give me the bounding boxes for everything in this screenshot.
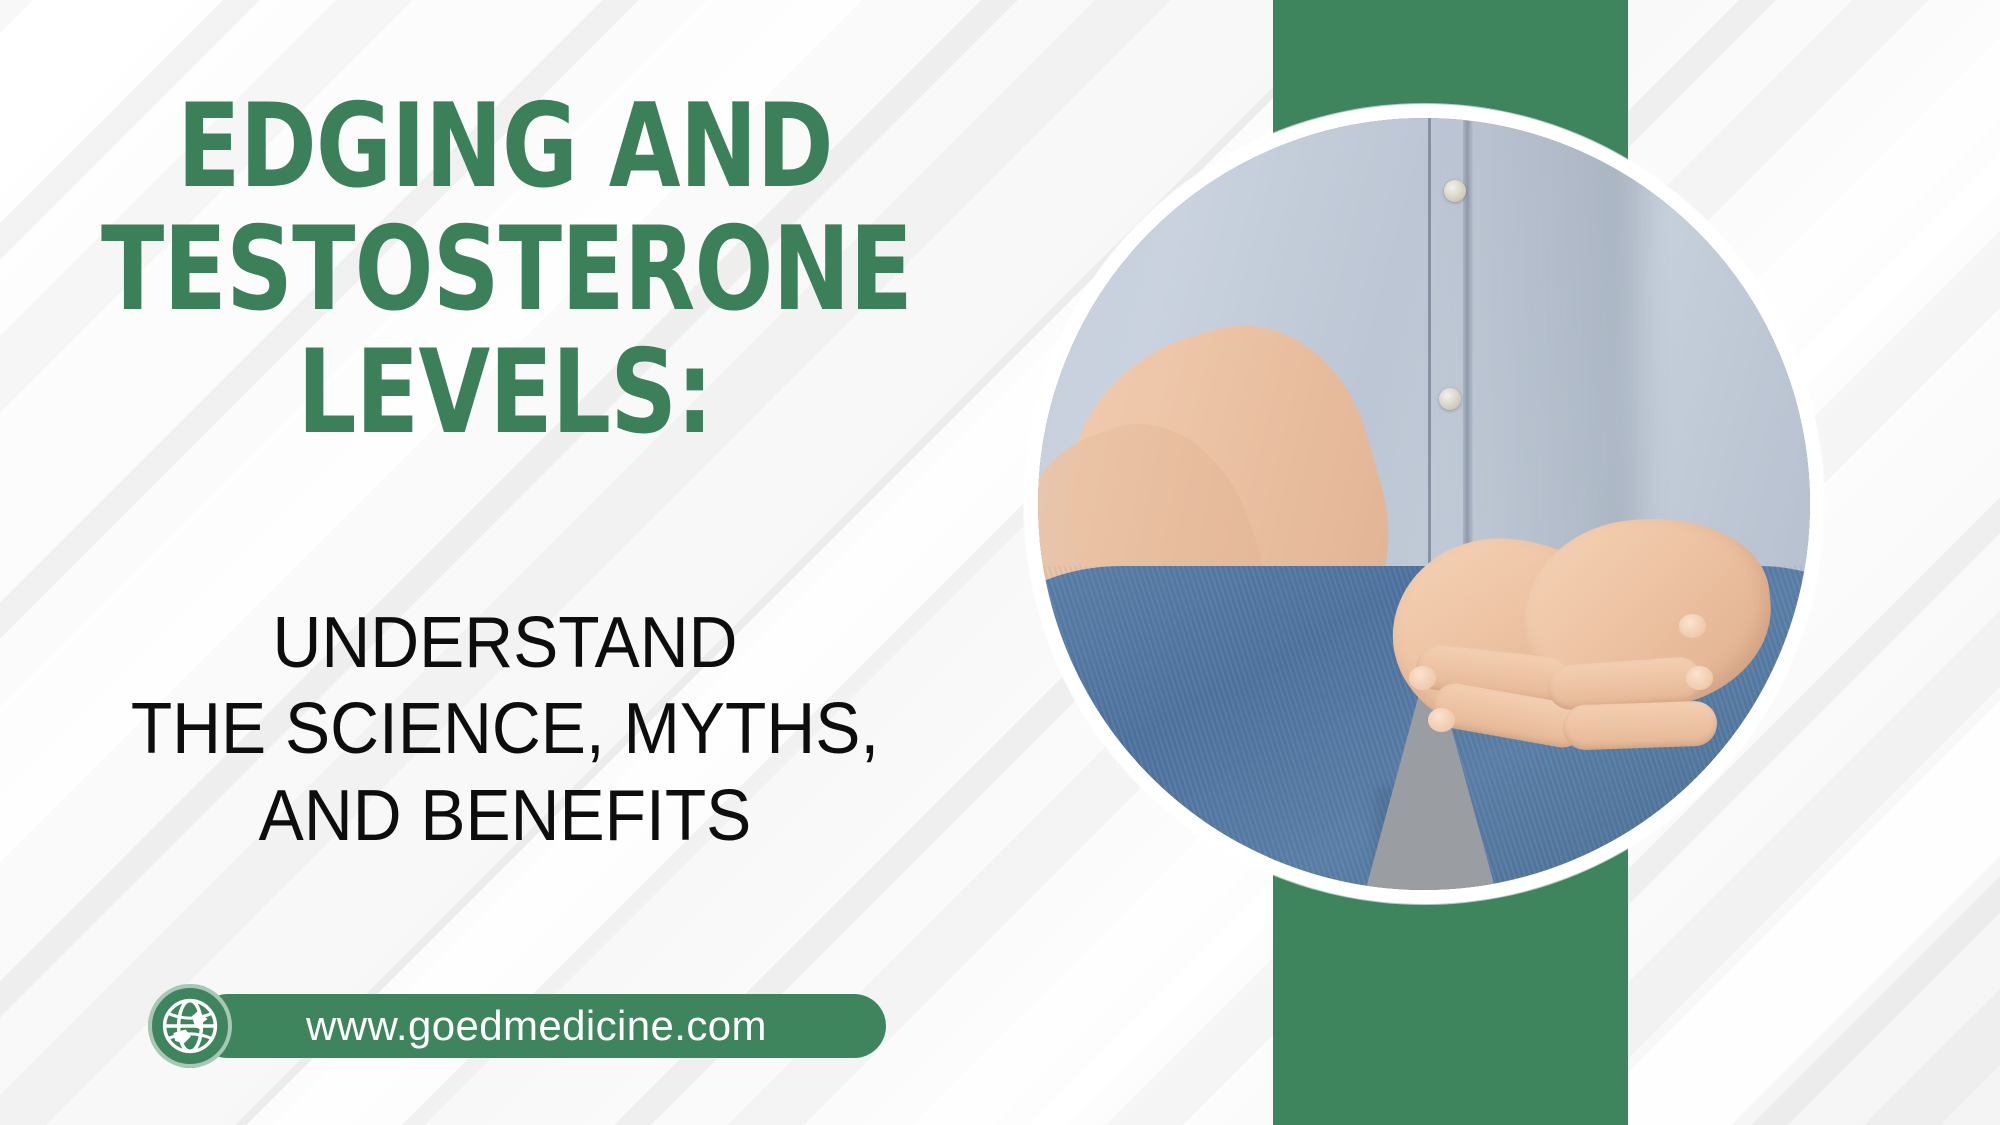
headline-line-3: LEVELS: (101, 338, 909, 447)
photo-fingernail (1409, 666, 1436, 690)
globe-icon-ring (148, 984, 232, 1068)
content-column: EDGING AND TESTOSTERONE LEVELS: UNDERSTA… (0, 0, 1010, 1125)
photo-shirt-button (1444, 180, 1466, 202)
subheadline-line-1: UNDERSTAND (30, 600, 979, 686)
globe-icon (148, 984, 232, 1068)
page-subtitle: UNDERSTAND THE SCIENCE, MYTHS, AND BENEF… (0, 600, 1010, 859)
subheadline-line-3: AND BENEFITS (30, 773, 979, 859)
photo-fingernail (1679, 614, 1706, 638)
page-title: EDGING AND TESTOSTERONE LEVELS: (0, 92, 1010, 461)
url-pill-background: www.goedmedicine.com (196, 994, 886, 1058)
headline-line-1: EDGING AND (101, 92, 909, 201)
photo-clasped-hands (1393, 519, 1779, 781)
website-url-bar[interactable]: www.goedmedicine.com (148, 990, 232, 1062)
promo-banner: EDGING AND TESTOSTERONE LEVELS: UNDERSTA… (0, 0, 2000, 1125)
hero-photo-circle (1024, 104, 1824, 904)
headline-line-2: TESTOSTERONE (101, 215, 909, 324)
photo-fingernail (1428, 708, 1455, 732)
website-url-text: www.goedmedicine.com (306, 1002, 767, 1050)
photo-finger (1562, 700, 1718, 750)
subheadline-line-2: THE SCIENCE, MYTHS, (30, 686, 979, 772)
hero-photo-image (1038, 118, 1810, 890)
